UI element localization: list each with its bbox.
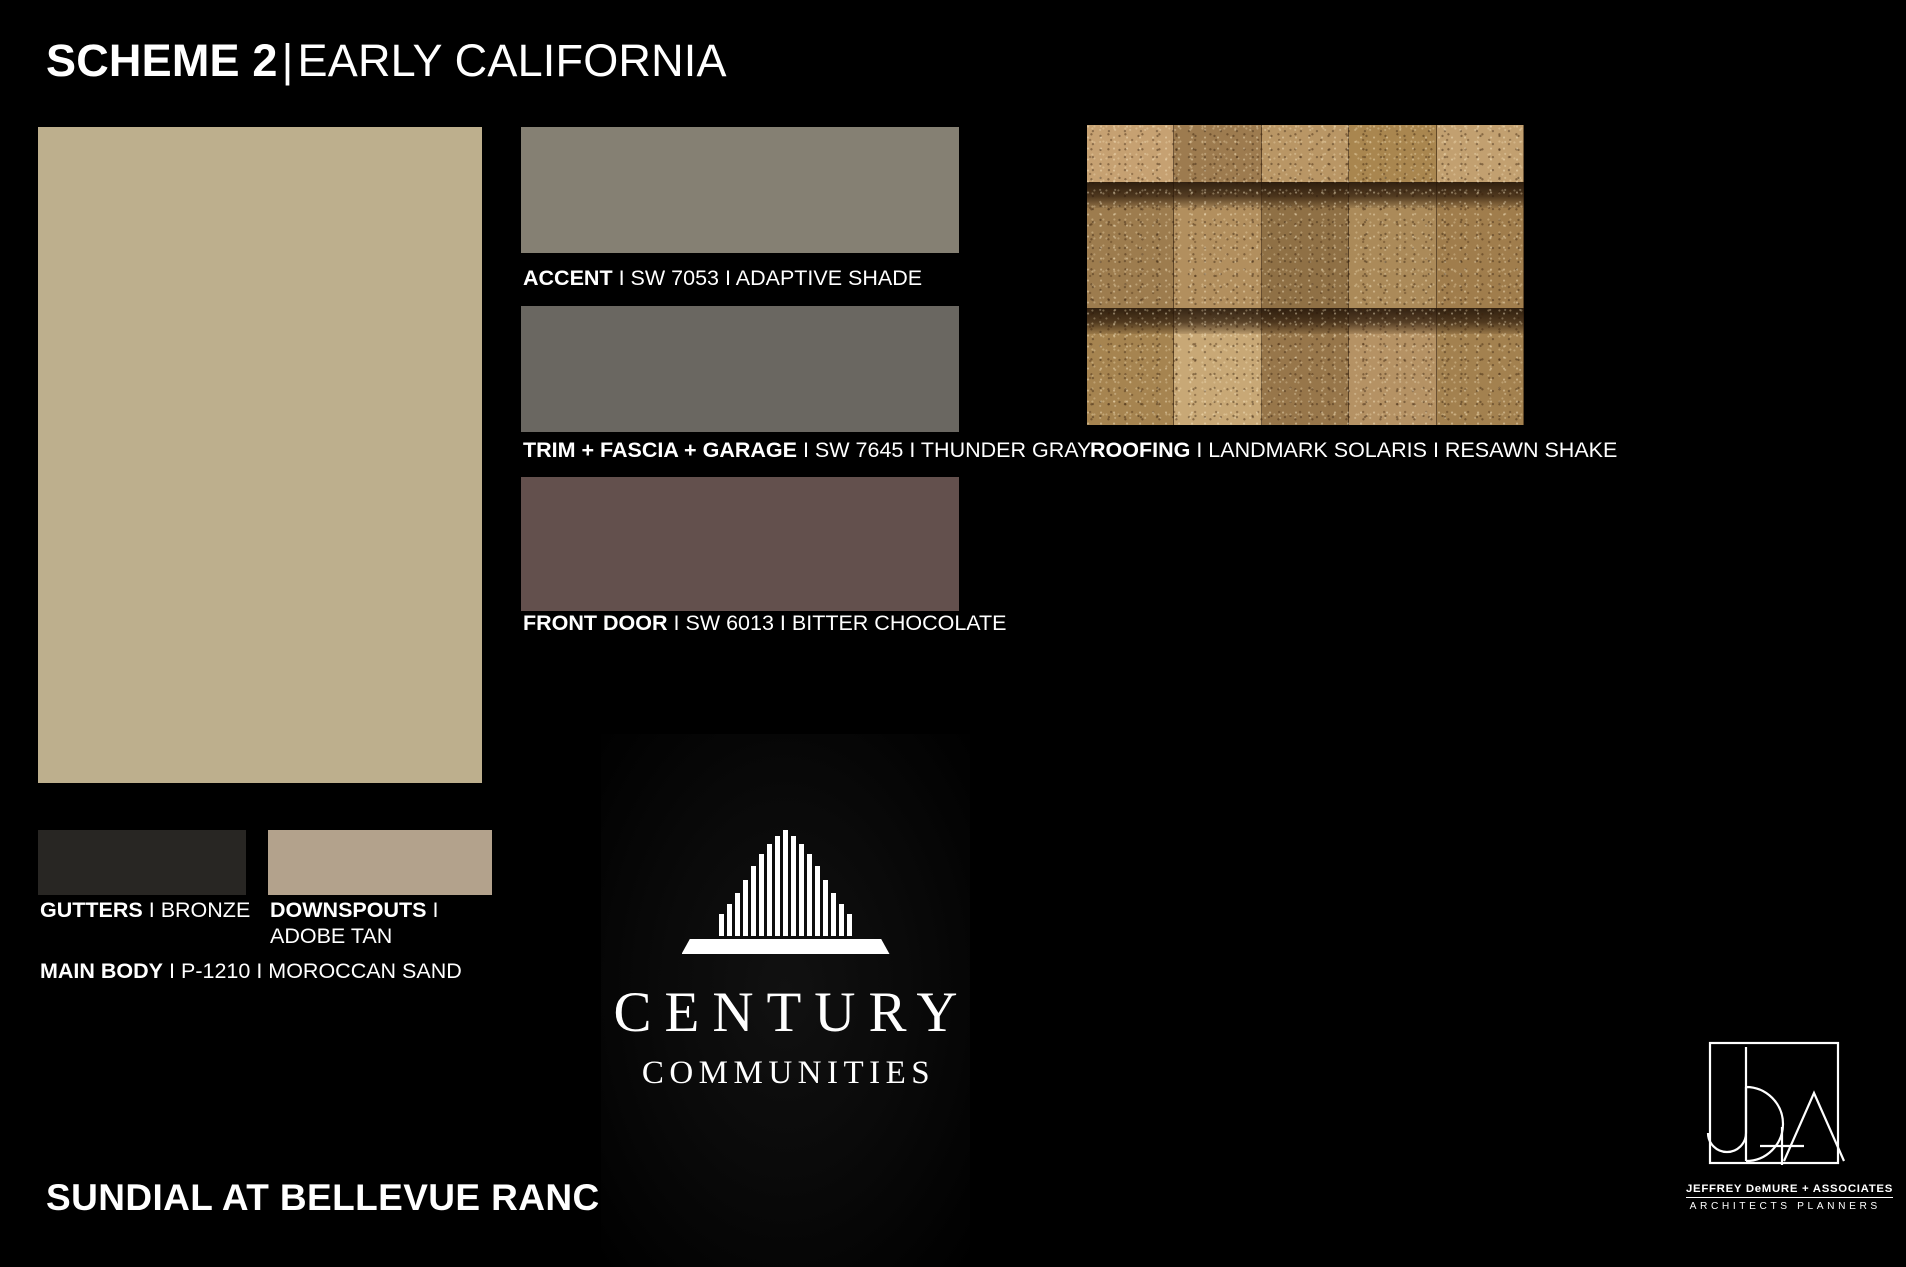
label-trim-title: TRIM + FASCIA + GARAGE — [523, 438, 797, 462]
label-accent-code: SW 7053 — [631, 266, 719, 290]
label-main-body: MAIN BODY I P-1210 I MOROCCAN SAND — [40, 958, 462, 984]
label-accent-title: ACCENT — [523, 266, 613, 290]
title-separator: | — [278, 35, 298, 86]
label-accent-name: ADAPTIVE SHADE — [736, 266, 922, 290]
label-downspouts-sep: I — [432, 898, 438, 922]
scheme-name: EARLY CALIFORNIA — [298, 35, 727, 86]
label-roofing-sep2: I — [1433, 438, 1439, 462]
label-front-door-title: FRONT DOOR — [523, 611, 668, 635]
swatch-roofing[interactable] — [1087, 125, 1524, 425]
swatch-accent[interactable] — [521, 127, 959, 253]
label-roofing-title: ROOFING — [1090, 438, 1190, 462]
label-gutters: GUTTERS I BRONZE — [40, 897, 250, 923]
shingle-tab — [1174, 125, 1261, 187]
shingle-shadow-line — [1087, 308, 1524, 334]
jda-monogram-icon — [1686, 1035, 1874, 1175]
shingle-tab — [1437, 125, 1524, 187]
label-main-body-code: P-1210 — [181, 959, 250, 983]
shingle-course-3 — [1087, 308, 1524, 425]
century-communities-logo: CENTURY COMMUNITIES — [601, 734, 970, 1267]
swatch-trim-fascia-garage[interactable] — [521, 306, 959, 432]
color-scheme-board: SCHEME 2|EARLY CALIFORNIA MAIN BODY I P-… — [0, 0, 1906, 1267]
label-front-door-sep1: I — [674, 611, 680, 635]
dome-cupola-icon — [686, 830, 886, 936]
label-front-door-sep2: I — [780, 611, 786, 635]
label-downspouts-name: ADOBE TAN — [270, 924, 392, 948]
label-main-body-title: MAIN BODY — [40, 959, 163, 983]
label-downspouts-title: DOWNSPOUTS — [270, 898, 426, 922]
shingle-course-2 — [1087, 182, 1524, 310]
jda-discipline: ARCHITECTS PLANNERS — [1686, 1201, 1874, 1213]
shingle-course-1 — [1087, 125, 1524, 187]
label-accent-sep2: I — [725, 266, 731, 290]
label-trim-sep2: I — [909, 438, 915, 462]
label-accent-sep1: I — [619, 266, 625, 290]
label-trim-name: THUNDER GRAY — [921, 438, 1091, 462]
label-trim-sep1: I — [803, 438, 809, 462]
label-front-door-code: SW 6013 — [685, 611, 773, 635]
swatch-main-body[interactable] — [38, 127, 482, 783]
swatch-front-door[interactable] — [521, 477, 959, 611]
label-roofing-code: LANDMARK SOLARIS — [1208, 438, 1427, 462]
shingle-tab — [1262, 125, 1349, 187]
label-gutters-sep: I — [149, 898, 155, 922]
dome-base-plinth — [682, 939, 890, 954]
label-gutters-title: GUTTERS — [40, 898, 143, 922]
label-roofing-sep1: I — [1196, 438, 1202, 462]
label-accent: ACCENT I SW 7053 I ADAPTIVE SHADE — [523, 265, 922, 291]
century-wordmark: CENTURY — [601, 984, 970, 1041]
label-front-door: FRONT DOOR I SW 6013 I BITTER CHOCOLATE — [523, 610, 1007, 636]
project-title: SUNDIAL AT BELLEVUE RANCH — [46, 1177, 627, 1219]
scheme-number: SCHEME 2 — [46, 35, 278, 86]
label-downspouts: DOWNSPOUTS I ADOBE TAN — [270, 897, 485, 949]
label-front-door-name: BITTER CHOCOLATE — [792, 611, 1007, 635]
swatch-gutters[interactable] — [38, 830, 246, 895]
shingle-shadow-line — [1087, 182, 1524, 208]
jda-firm-name: JEFFREY DeMURE + ASSOCIATES — [1686, 1182, 1893, 1198]
label-roofing: ROOFING I LANDMARK SOLARIS I RESAWN SHAK… — [1090, 437, 1617, 463]
communities-wordmark: COMMUNITIES — [636, 1057, 935, 1090]
label-trim-code: SW 7645 — [815, 438, 903, 462]
jeffrey-demure-associates-logo: JEFFREY DeMURE + ASSOCIATES ARCHITECTS P… — [1686, 1035, 1874, 1235]
swatch-downspouts[interactable] — [268, 830, 492, 895]
shingle-tab — [1087, 125, 1174, 187]
shingle-tab — [1349, 125, 1436, 187]
label-main-body-name: MOROCCAN SAND — [268, 959, 462, 983]
label-main-body-sep1: I — [169, 959, 175, 983]
label-main-body-sep2: I — [256, 959, 262, 983]
jda-tagline: JEFFREY DeMURE + ASSOCIATES ARCHITECTS P… — [1686, 1179, 1874, 1213]
label-roofing-name: RESAWN SHAKE — [1445, 438, 1617, 462]
page-title: SCHEME 2|EARLY CALIFORNIA — [46, 36, 727, 86]
label-trim-fascia-garage: TRIM + FASCIA + GARAGE I SW 7645 I THUND… — [523, 437, 1091, 463]
label-gutters-name: BRONZE — [161, 898, 251, 922]
